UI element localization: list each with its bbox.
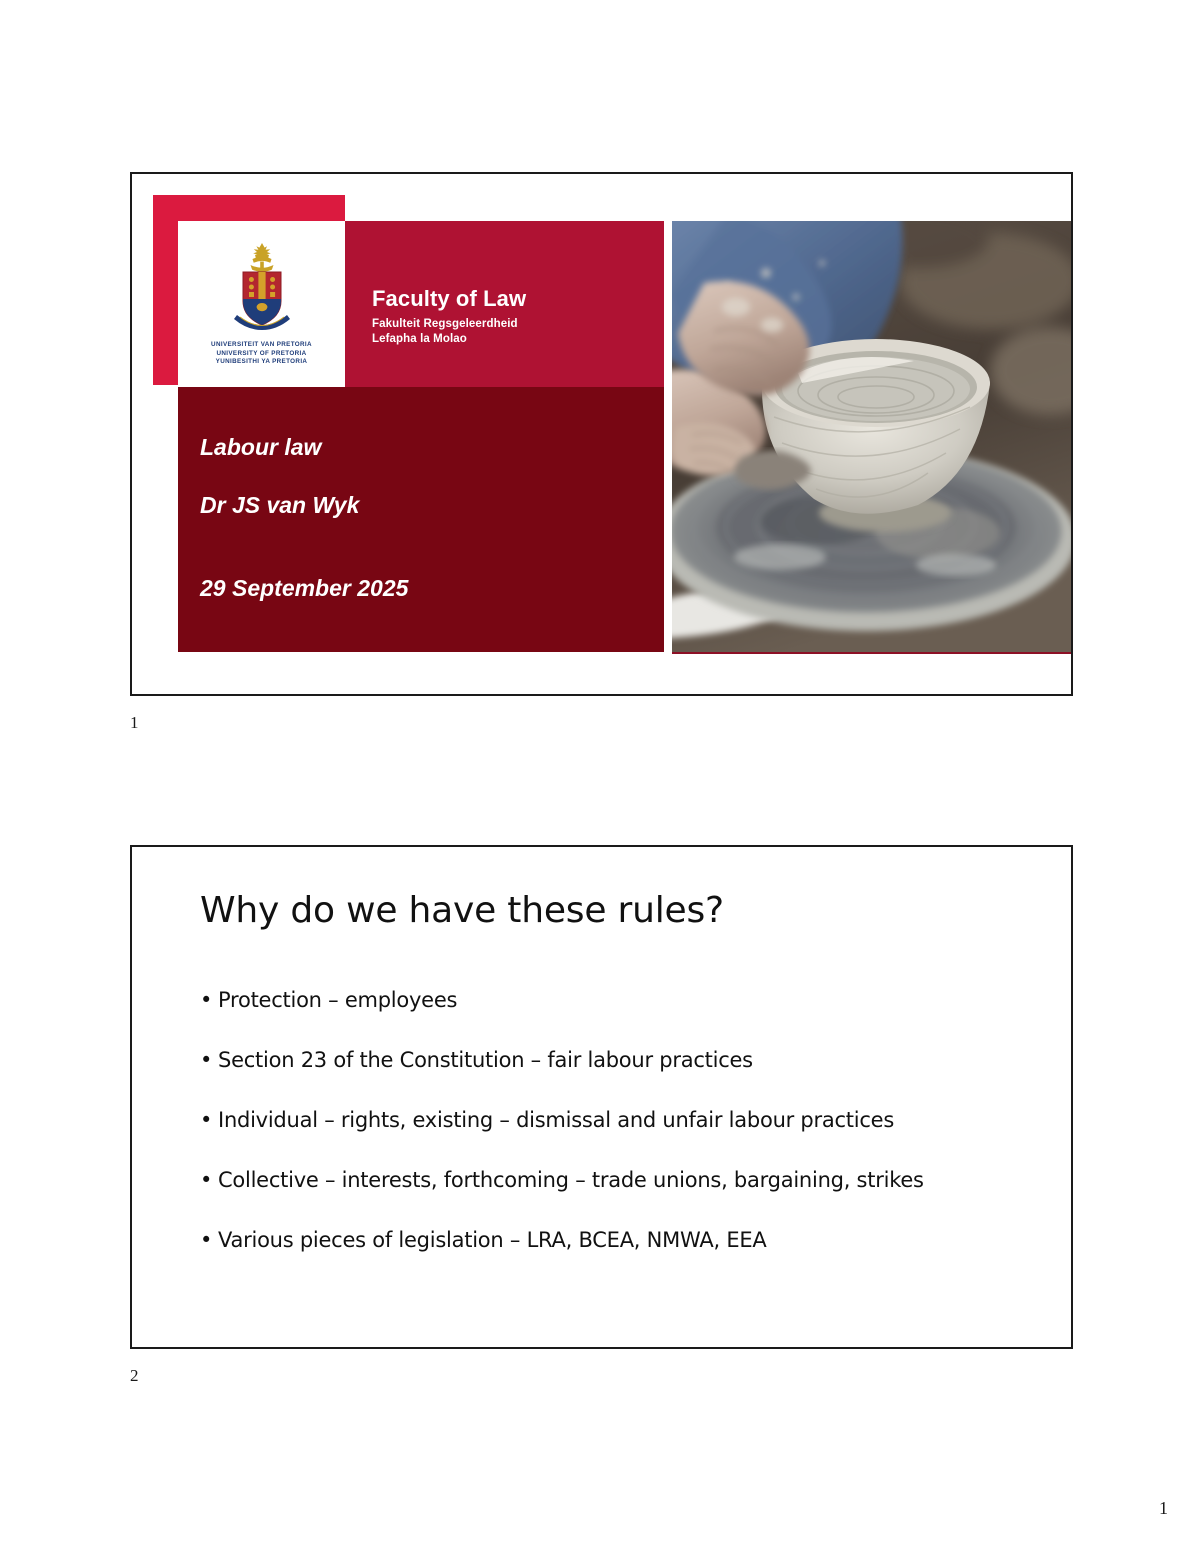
title-block: Labour law Dr JS van Wyk 29 September 20… — [178, 387, 664, 652]
faculty-name-block: Faculty of Law Fakulteit Regsgeleerdheid… — [372, 286, 526, 347]
list-item-text: Section 23 of the Constitution – fair la… — [218, 1048, 753, 1072]
title-text-group: Labour law Dr JS van Wyk 29 September 20… — [200, 432, 650, 603]
list-item: • Collective – interests, forthcoming – … — [200, 1167, 1037, 1193]
slide-number-1: 1 — [130, 713, 139, 733]
presenter-name: Dr JS van Wyk — [200, 490, 650, 520]
slide-2[interactable]: Why do we have these rules? • Protection… — [130, 845, 1073, 1349]
list-item-text: Various pieces of legislation – LRA, BCE… — [218, 1228, 766, 1252]
slide-1-content: UNIVERSITEIT VAN PRETORIA UNIVERSITY OF … — [132, 174, 1071, 694]
page-number: 1 — [1159, 1498, 1168, 1519]
list-item-text: Collective – interests, forthcoming – tr… — [218, 1168, 924, 1192]
list-item: • Section 23 of the Constitution – fair … — [200, 1047, 1037, 1073]
faculty-title: Faculty of Law — [372, 286, 526, 312]
university-logo-panel: UNIVERSITEIT VAN PRETORIA UNIVERSITY OF … — [178, 221, 345, 387]
list-item: • Protection – employees — [200, 987, 1037, 1013]
slide-2-content: Why do we have these rules? • Protection… — [132, 847, 1071, 1347]
list-item-text: Individual – rights, existing – dismissa… — [218, 1108, 894, 1132]
slide-2-title: Why do we have these rules? — [200, 889, 1031, 933]
university-wordmark: UNIVERSITEIT VAN PRETORIA UNIVERSITY OF … — [211, 341, 312, 366]
faculty-subtitle: Fakulteit Regsgeleerdheid Lefapha la Mol… — [372, 317, 526, 347]
pottery-photo — [672, 221, 1071, 654]
bullet-dot-icon: • — [200, 1227, 212, 1253]
lecture-title: Labour law — [200, 432, 650, 462]
list-item-text: Protection – employees — [218, 988, 457, 1012]
bullet-dot-icon: • — [200, 1047, 212, 1073]
list-item: • Various pieces of legislation – LRA, B… — [200, 1227, 1037, 1253]
bullet-dot-icon: • — [200, 1107, 212, 1133]
bullet-dot-icon: • — [200, 1167, 212, 1193]
pottery-photo-image — [672, 221, 1071, 652]
university-crest-icon — [231, 241, 293, 337]
bullet-list: • Protection – employees • Section 23 of… — [200, 987, 1037, 1253]
slide-number-2: 2 — [130, 1366, 139, 1386]
handout-page: UNIVERSITEIT VAN PRETORIA UNIVERSITY OF … — [0, 0, 1200, 1553]
slide-1[interactable]: UNIVERSITEIT VAN PRETORIA UNIVERSITY OF … — [130, 172, 1073, 696]
lecture-date: 29 September 2025 — [200, 573, 650, 603]
bullet-dot-icon: • — [200, 987, 212, 1013]
list-item: • Individual – rights, existing – dismis… — [200, 1107, 1037, 1133]
